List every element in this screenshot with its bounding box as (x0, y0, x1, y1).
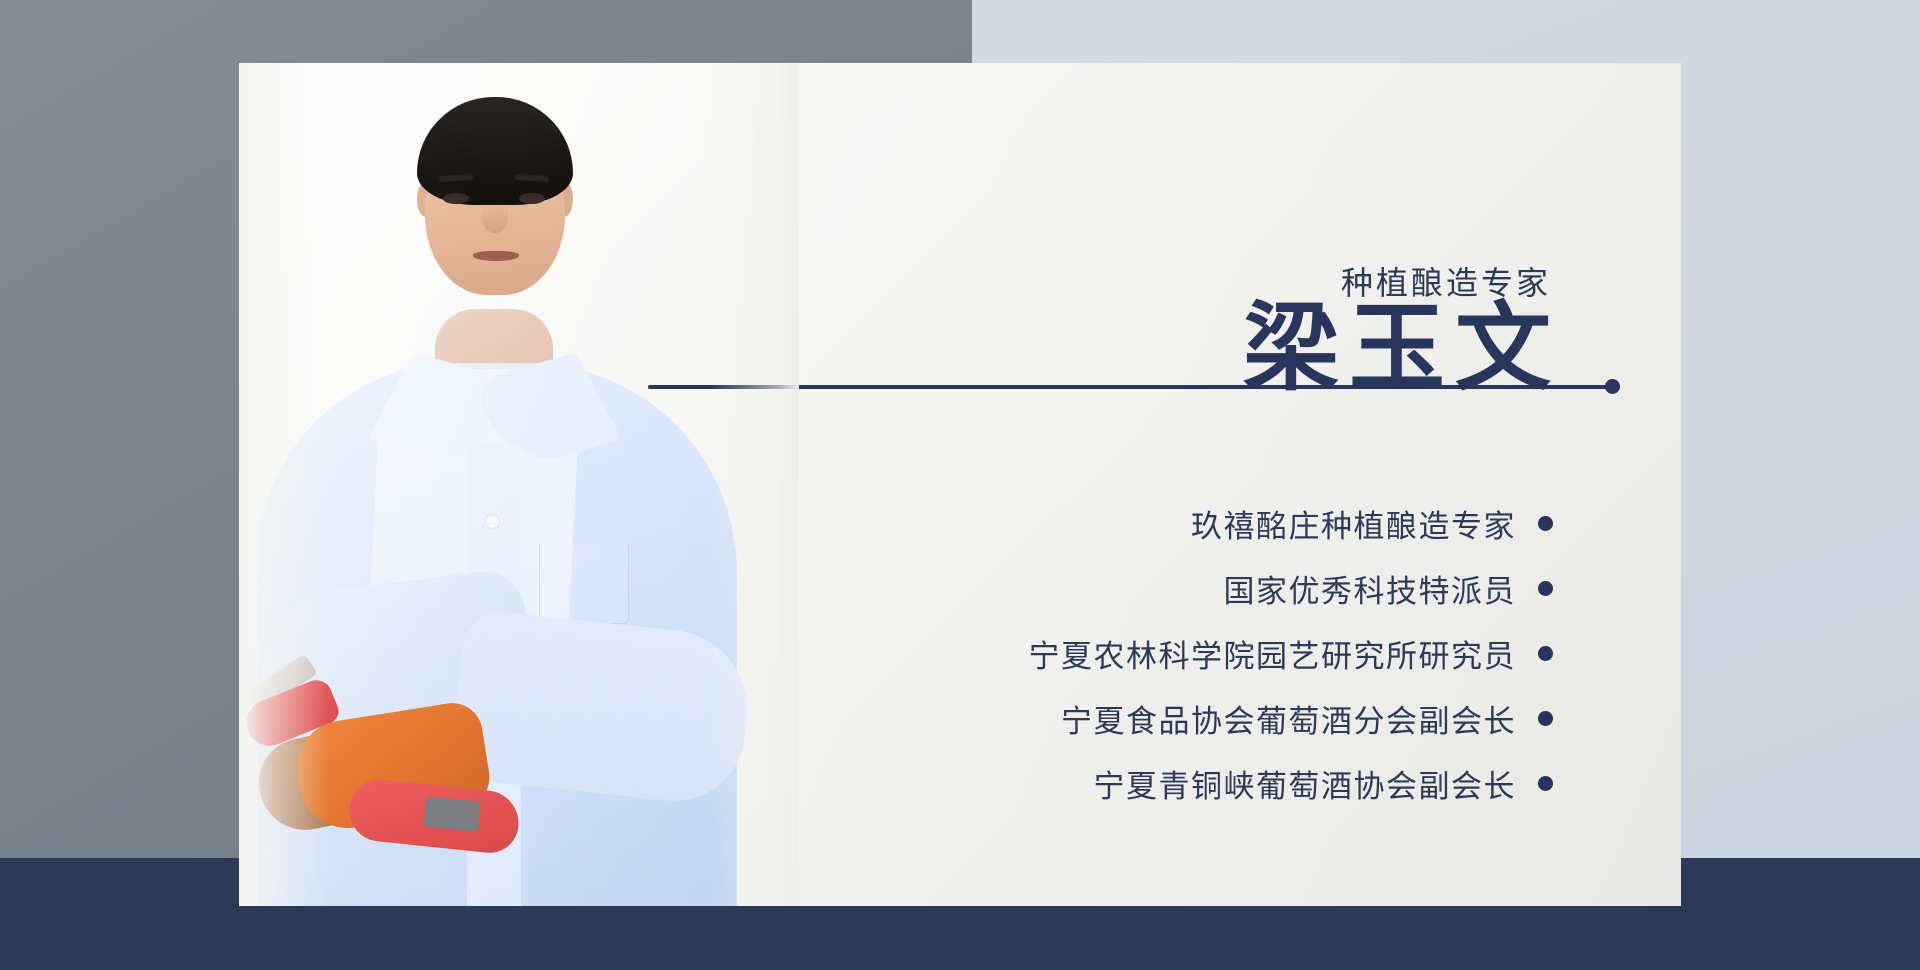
divider-line (648, 385, 1613, 389)
list-item: 宁夏食品协会葡萄酒分会副会长 (733, 686, 1553, 751)
bullet-dot-icon (1538, 516, 1553, 531)
bullet-dot-icon (1538, 711, 1553, 726)
profile-banner: 种植酿造专家 梁玉文 玖禧酩庄种植酿造专家 国家优秀科技特派员 宁夏农林科学院园… (0, 0, 1920, 970)
credential-label: 国家优秀科技特派员 (1224, 566, 1517, 611)
portrait-shirt-button (486, 515, 499, 528)
portrait-mouth (473, 251, 519, 261)
credential-label: 宁夏农林科学院园艺研究所研究员 (1029, 631, 1517, 676)
expert-portrait-photo (239, 63, 799, 906)
list-item: 国家优秀科技特派员 (733, 556, 1553, 621)
bullet-dot-icon (1538, 646, 1553, 661)
bullet-dot-icon (1538, 581, 1553, 596)
divider-end-dot (1605, 379, 1620, 394)
profile-card: 种植酿造专家 梁玉文 玖禧酩庄种植酿造专家 国家优秀科技特派员 宁夏农林科学院园… (239, 63, 1681, 906)
list-item: 玖禧酩庄种植酿造专家 (733, 491, 1553, 556)
portrait-hair (417, 97, 573, 205)
portrait-nose (482, 203, 508, 233)
credential-label: 玖禧酩庄种植酿造专家 (1191, 501, 1516, 546)
bullet-dot-icon (1538, 776, 1553, 791)
portrait-shirt-pocket (539, 543, 629, 624)
pruning-shears-label (424, 796, 481, 831)
credential-label: 宁夏青铜峡葡萄酒协会副会长 (1094, 761, 1517, 806)
portrait-eye-right (519, 193, 545, 204)
list-item: 宁夏农林科学院园艺研究所研究员 (733, 621, 1553, 686)
list-item: 宁夏青铜峡葡萄酒协会副会长 (733, 751, 1553, 816)
credentials-list: 玖禧酩庄种植酿造专家 国家优秀科技特派员 宁夏农林科学院园艺研究所研究员 宁夏食… (733, 491, 1553, 816)
portrait-eye-left (443, 193, 469, 204)
credential-label: 宁夏食品协会葡萄酒分会副会长 (1061, 696, 1516, 741)
